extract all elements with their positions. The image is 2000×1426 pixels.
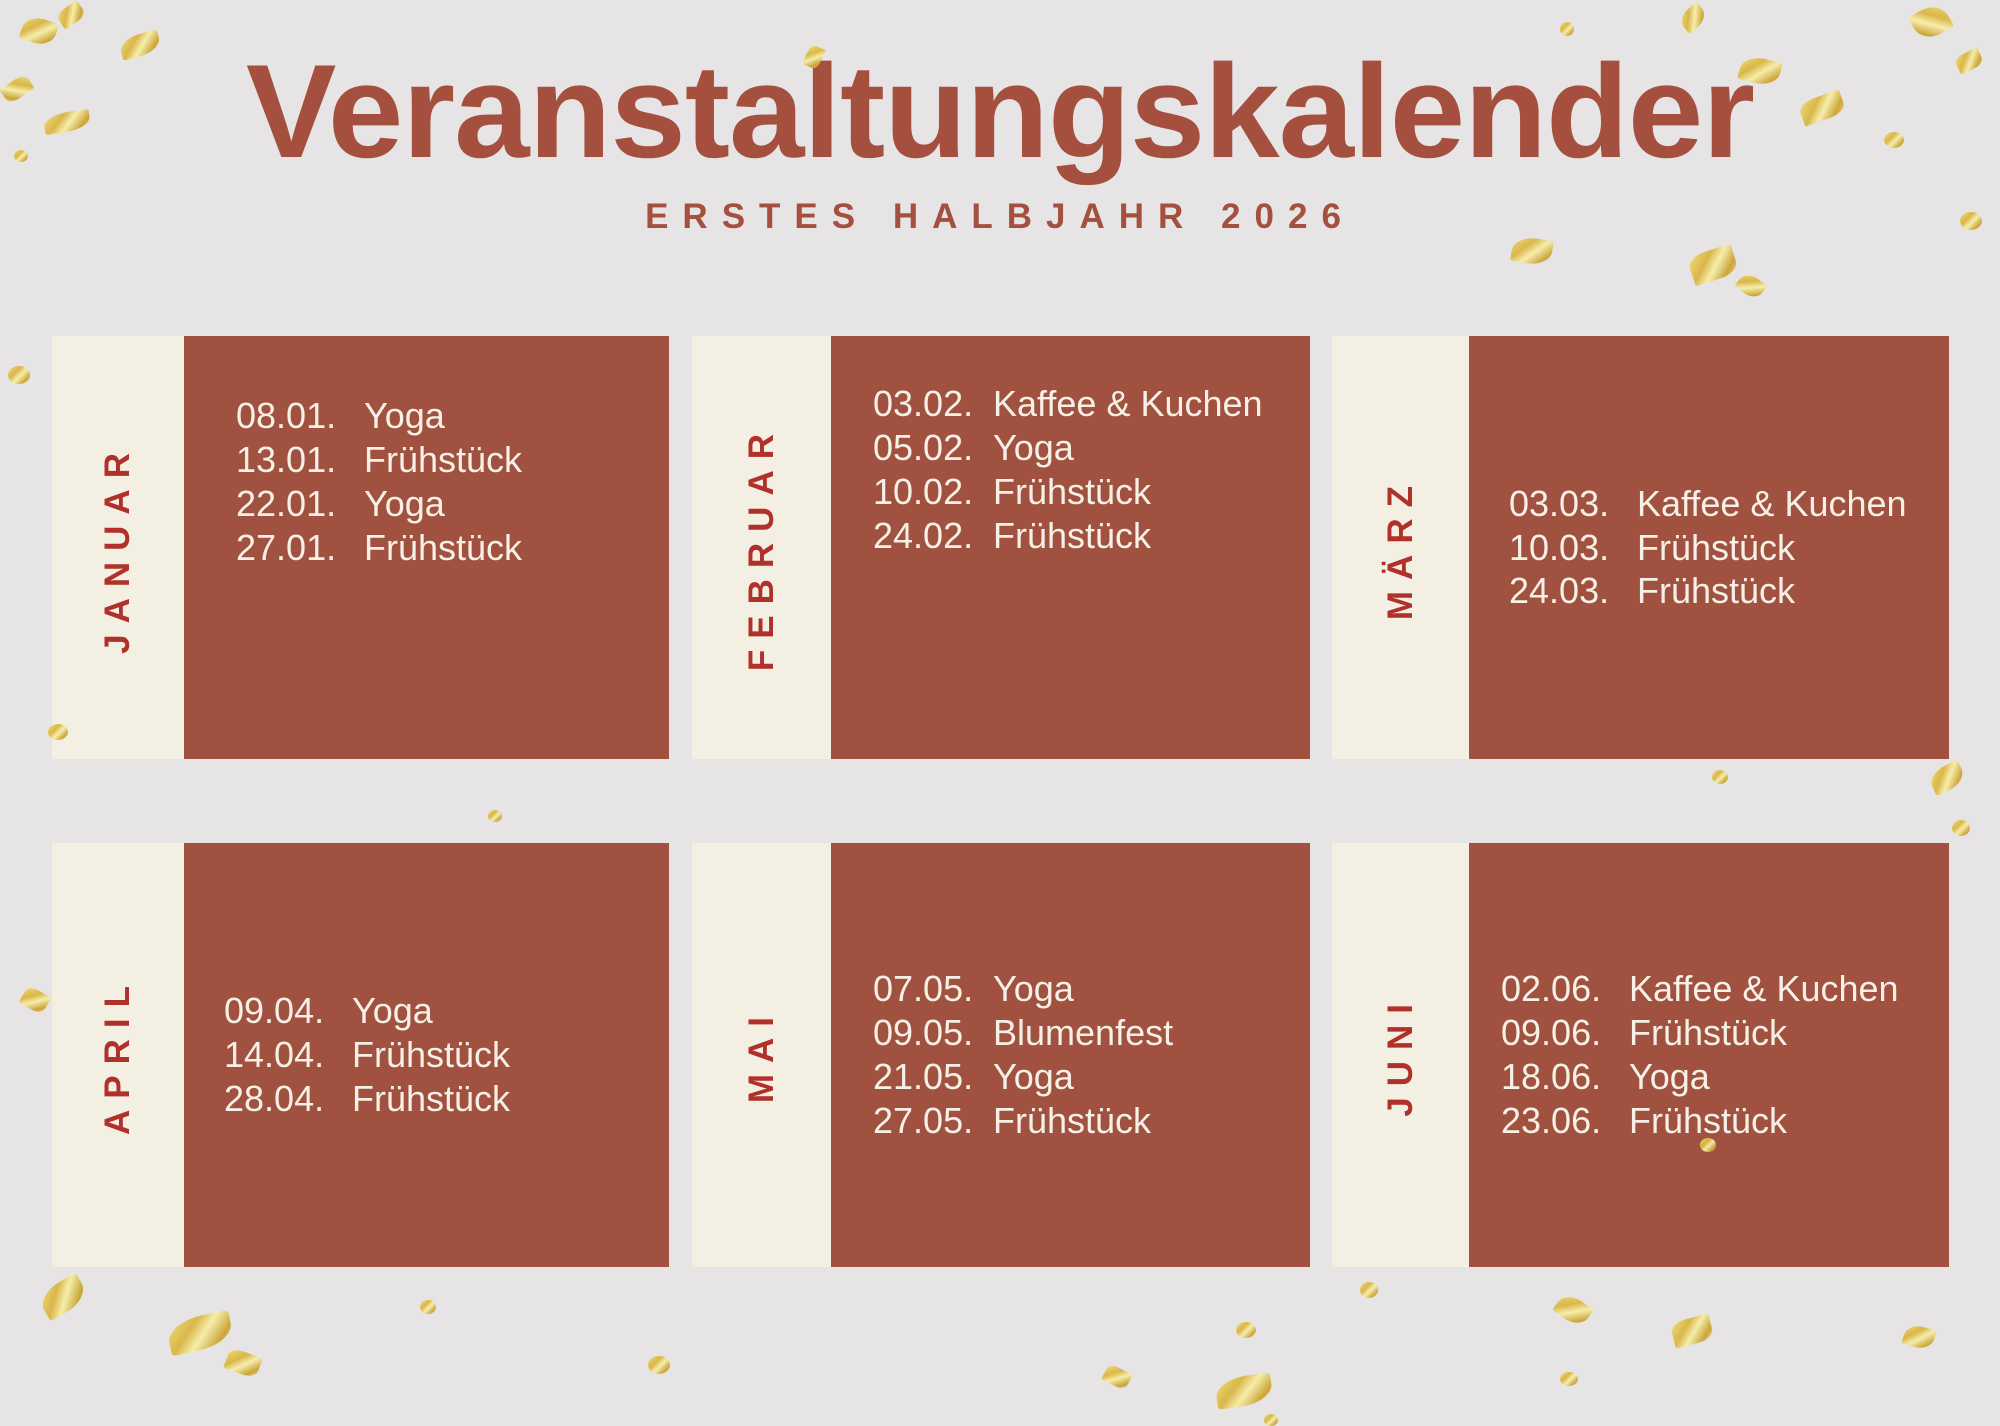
event-name: Frühstück <box>352 1033 510 1077</box>
month-label-strip: MÄRZ <box>1332 336 1469 759</box>
event-item: 02.06.Kaffee & Kuchen <box>1501 967 1949 1011</box>
event-item: 08.01.Yoga <box>236 394 669 438</box>
event-name: Frühstück <box>1629 1011 1787 1055</box>
event-item: 27.01.Frühstück <box>236 526 669 570</box>
event-date: 23.06. <box>1501 1099 1629 1143</box>
event-item: 24.03.Frühstück <box>1509 569 1949 613</box>
event-date: 13.01. <box>236 438 364 482</box>
event-item: 23.06.Frühstück <box>1501 1099 1949 1143</box>
event-date: 09.06. <box>1501 1011 1629 1055</box>
page-subtitle: ERSTES HALBJAHR 2026 <box>0 197 2000 237</box>
event-date: 10.03. <box>1509 526 1637 570</box>
event-item: 18.06.Yoga <box>1501 1055 1949 1099</box>
event-date: 03.03. <box>1509 482 1637 526</box>
month-card-mai: MAI07.05.Yoga09.05.Blumenfest21.05.Yoga2… <box>692 843 1310 1267</box>
page-title: Veranstaltungskalender <box>0 46 2000 179</box>
event-item: 10.02.Frühstück <box>873 470 1310 514</box>
event-item: 14.04.Frühstück <box>224 1033 669 1077</box>
month-card-januar: JANUAR08.01.Yoga13.01.Frühstück22.01.Yog… <box>52 336 669 759</box>
month-label-strip: MAI <box>692 843 831 1267</box>
month-label-strip: FEBRUAR <box>692 336 831 759</box>
confetti-fleck <box>1264 1414 1278 1426</box>
event-item: 24.02.Frühstück <box>873 514 1310 558</box>
month-card-februar: FEBRUAR03.02.Kaffee & Kuchen05.02.Yoga10… <box>692 336 1310 759</box>
event-name: Yoga <box>993 426 1074 470</box>
event-list: 03.03.Kaffee & Kuchen10.03.Frühstück24.0… <box>1509 482 1949 614</box>
event-list: 09.04.Yoga14.04.Frühstück28.04.Frühstück <box>224 989 669 1121</box>
month-label: MAI <box>742 1006 782 1103</box>
event-date: 21.05. <box>873 1055 993 1099</box>
event-date: 09.04. <box>224 989 352 1033</box>
month-label: FEBRUAR <box>742 423 782 671</box>
event-date: 22.01. <box>236 482 364 526</box>
event-date: 18.06. <box>1501 1055 1629 1099</box>
event-date: 10.02. <box>873 470 993 514</box>
month-label: JANUAR <box>98 442 138 654</box>
event-item: 10.03.Frühstück <box>1509 526 1949 570</box>
event-list: 02.06.Kaffee & Kuchen09.06.Frühstück18.0… <box>1501 967 1949 1143</box>
month-events-panel: 02.06.Kaffee & Kuchen09.06.Frühstück18.0… <box>1469 843 1949 1267</box>
month-label: JUNI <box>1381 993 1421 1117</box>
event-name: Frühstück <box>993 1099 1151 1143</box>
event-date: 07.05. <box>873 967 993 1011</box>
event-name: Yoga <box>364 482 445 526</box>
event-date: 24.03. <box>1509 569 1637 613</box>
event-item: 13.01.Frühstück <box>236 438 669 482</box>
event-item: 03.02.Kaffee & Kuchen <box>873 382 1310 426</box>
event-item: 09.06.Frühstück <box>1501 1011 1949 1055</box>
event-name: Frühstück <box>352 1077 510 1121</box>
event-name: Frühstück <box>1637 569 1795 613</box>
event-date: 05.02. <box>873 426 993 470</box>
event-item: 27.05.Frühstück <box>873 1099 1310 1143</box>
event-item: 09.04.Yoga <box>224 989 669 1033</box>
poster-canvas: Veranstaltungskalender ERSTES HALBJAHR 2… <box>0 0 2000 1410</box>
event-item: 07.05.Yoga <box>873 967 1310 1011</box>
event-item: 03.03.Kaffee & Kuchen <box>1509 482 1949 526</box>
event-item: 28.04.Frühstück <box>224 1077 669 1121</box>
event-date: 27.05. <box>873 1099 993 1143</box>
event-name: Frühstück <box>364 438 522 482</box>
event-date: 09.05. <box>873 1011 993 1055</box>
event-name: Kaffee & Kuchen <box>1629 967 1899 1011</box>
event-list: 03.02.Kaffee & Kuchen05.02.Yoga10.02.Frü… <box>873 382 1310 558</box>
month-events-panel: 09.04.Yoga14.04.Frühstück28.04.Frühstück <box>184 843 669 1267</box>
month-card-juni: JUNI02.06.Kaffee & Kuchen09.06.Frühstück… <box>1332 843 1949 1267</box>
event-list: 07.05.Yoga09.05.Blumenfest21.05.Yoga27.0… <box>873 967 1310 1143</box>
event-name: Yoga <box>993 967 1074 1011</box>
event-date: 28.04. <box>224 1077 352 1121</box>
event-date: 24.02. <box>873 514 993 558</box>
event-name: Frühstück <box>993 470 1151 514</box>
event-date: 03.02. <box>873 382 993 426</box>
event-name: Yoga <box>993 1055 1074 1099</box>
month-label-strip: JANUAR <box>52 336 184 759</box>
event-name: Frühstück <box>364 526 522 570</box>
month-events-panel: 08.01.Yoga13.01.Frühstück22.01.Yoga27.01… <box>184 336 669 759</box>
month-card-april: APRIL09.04.Yoga14.04.Frühstück28.04.Früh… <box>52 843 669 1267</box>
event-name: Yoga <box>352 989 433 1033</box>
event-item: 05.02.Yoga <box>873 426 1310 470</box>
event-name: Frühstück <box>1637 526 1795 570</box>
event-name: Kaffee & Kuchen <box>993 382 1263 426</box>
poster-header: Veranstaltungskalender ERSTES HALBJAHR 2… <box>0 46 2000 237</box>
month-events-panel: 03.02.Kaffee & Kuchen05.02.Yoga10.02.Frü… <box>831 336 1310 759</box>
event-date: 27.01. <box>236 526 364 570</box>
month-label-strip: APRIL <box>52 843 184 1267</box>
event-name: Yoga <box>364 394 445 438</box>
event-item: 09.05.Blumenfest <box>873 1011 1310 1055</box>
event-date: 08.01. <box>236 394 364 438</box>
month-label: APRIL <box>98 975 138 1135</box>
event-name: Frühstück <box>1629 1099 1787 1143</box>
event-name: Kaffee & Kuchen <box>1637 482 1907 526</box>
event-list: 08.01.Yoga13.01.Frühstück22.01.Yoga27.01… <box>236 394 669 570</box>
event-name: Yoga <box>1629 1055 1710 1099</box>
event-date: 14.04. <box>224 1033 352 1077</box>
month-label: MÄRZ <box>1381 475 1421 620</box>
event-date: 02.06. <box>1501 967 1629 1011</box>
event-item: 22.01.Yoga <box>236 482 669 526</box>
event-item: 21.05.Yoga <box>873 1055 1310 1099</box>
event-name: Frühstück <box>993 514 1151 558</box>
event-name: Blumenfest <box>993 1011 1173 1055</box>
month-events-panel: 07.05.Yoga09.05.Blumenfest21.05.Yoga27.0… <box>831 843 1310 1267</box>
month-label-strip: JUNI <box>1332 843 1469 1267</box>
month-card-märz: MÄRZ03.03.Kaffee & Kuchen10.03.Frühstück… <box>1332 336 1949 759</box>
month-events-panel: 03.03.Kaffee & Kuchen10.03.Frühstück24.0… <box>1469 336 1949 759</box>
